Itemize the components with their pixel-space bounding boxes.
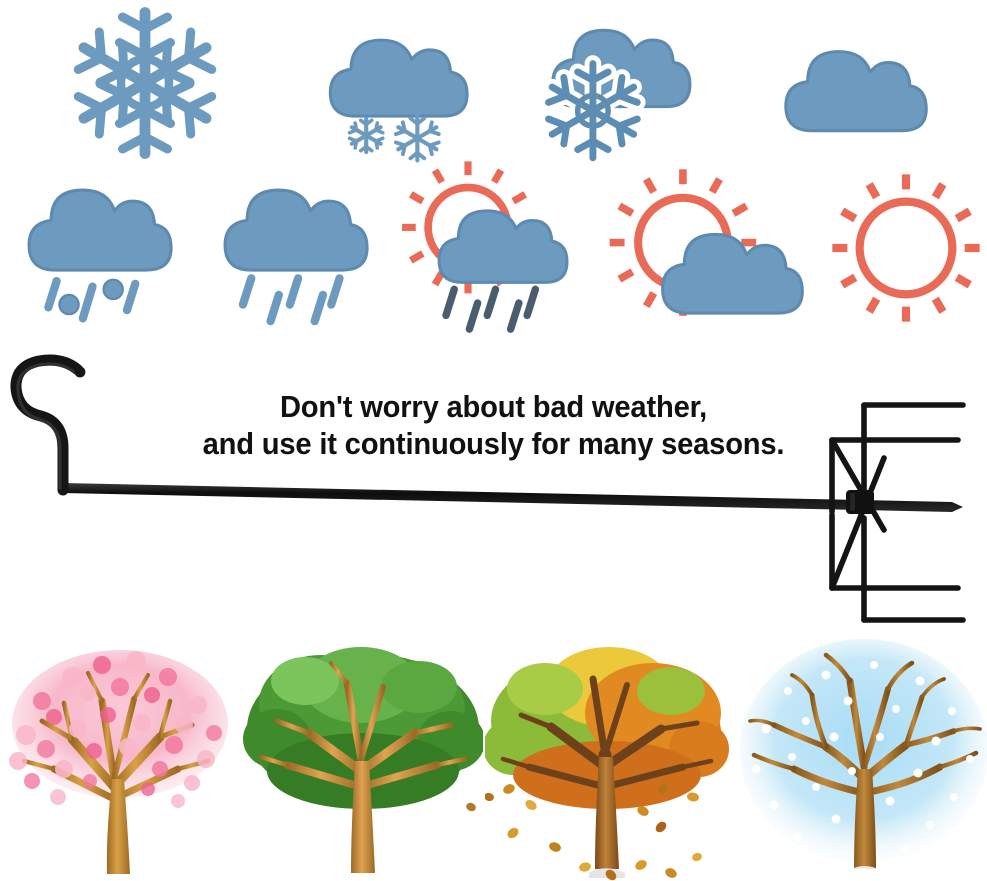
cloud-icon [720, 0, 987, 165]
cloud-sleet-icon [0, 163, 196, 333]
garden-shepherd-hook-stake [0, 330, 987, 640]
sun-cloud-icon [588, 163, 824, 333]
rain-sun-weather-row [0, 163, 987, 333]
spring-tree [0, 626, 240, 881]
snowflake-icon [0, 0, 290, 165]
autumn-tree [485, 626, 730, 881]
cloud-heavy-snow-icon [505, 0, 720, 165]
summer-tree [240, 626, 485, 881]
cloud-snow-icon [290, 0, 505, 165]
winter-tree [730, 626, 987, 881]
product-feature-banner: Don't worry about bad weather, and use i… [0, 0, 987, 881]
four-seasons-row [0, 626, 987, 881]
winter-weather-row [0, 0, 987, 165]
sun-icon [824, 163, 987, 333]
sun-cloud-rain-icon [392, 163, 588, 333]
cloud-rain-icon [196, 163, 392, 333]
